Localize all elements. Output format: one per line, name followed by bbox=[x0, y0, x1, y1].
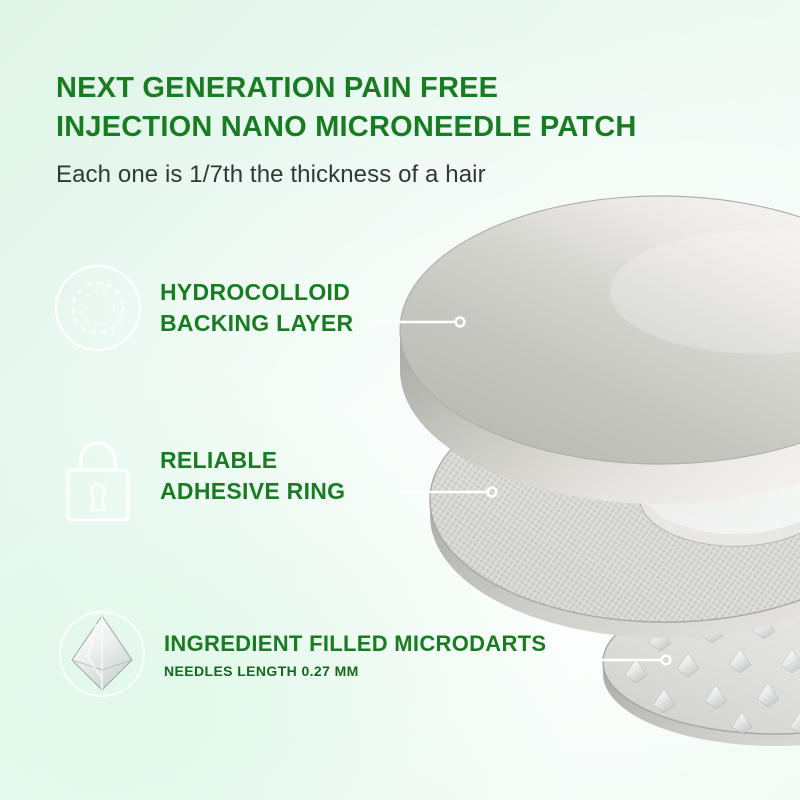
padlock-icon bbox=[52, 430, 144, 522]
feature-2-title: RELIABLE ADHESIVE RING bbox=[160, 445, 345, 506]
feature-2-text: RELIABLE ADHESIVE RING bbox=[160, 445, 345, 506]
subheadline: Each one is 1/7th the thickness of a hai… bbox=[56, 161, 716, 190]
feature-ingredient-filled-microdarts: INGREDIENT FILLED MICRODARTS NEEDLES LEN… bbox=[56, 608, 546, 700]
feature-1-title: HYDROCOLLOID BACKING LAYER bbox=[160, 277, 353, 338]
feature-reliable-adhesive-ring: RELIABLE ADHESIVE RING bbox=[52, 430, 345, 522]
product-infographic-poster: NEXT GENERATION PAIN FREE INJECTION NANO… bbox=[0, 0, 800, 800]
header: NEXT GENERATION PAIN FREE INJECTION NANO… bbox=[56, 70, 716, 190]
headline-line-2: INJECTION NANO MICRONEEDLE PATCH bbox=[56, 109, 716, 146]
feature-hydrocolloid-backing-layer: HYDROCOLLOID BACKING LAYER bbox=[52, 262, 353, 354]
feature-3-title: INGREDIENT FILLED MICRODARTS bbox=[164, 629, 546, 658]
feature-1-text: HYDROCOLLOID BACKING LAYER bbox=[160, 277, 353, 338]
feature-3-text: INGREDIENT FILLED MICRODARTS NEEDLES LEN… bbox=[164, 629, 546, 678]
headline-line-1: NEXT GENERATION PAIN FREE bbox=[56, 70, 716, 107]
hydrocolloid-circle-icon bbox=[52, 262, 144, 354]
microdart-cone-icon bbox=[56, 608, 148, 700]
feature-3-subtitle: NEEDLES LENGTH 0.27 MM bbox=[164, 663, 546, 679]
